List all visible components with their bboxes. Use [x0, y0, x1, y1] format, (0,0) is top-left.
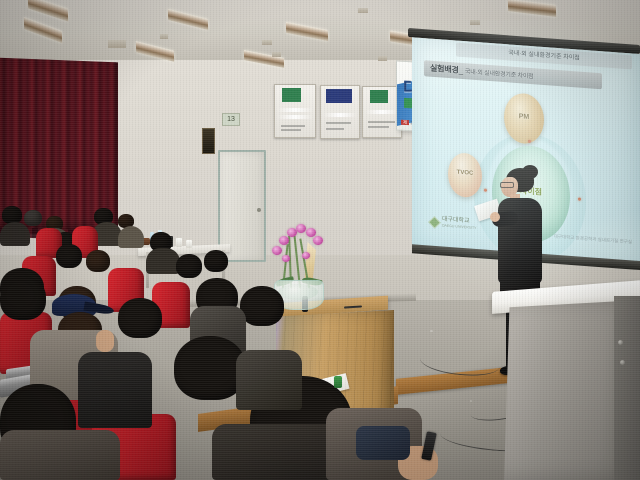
- presenter-torso: [498, 198, 542, 284]
- ceiling-light: [508, 0, 556, 17]
- audience-head: [240, 286, 284, 326]
- audience-head: [176, 254, 202, 278]
- poster-text-line: [281, 129, 301, 131]
- slide-node-dot: [484, 189, 487, 192]
- room-number-sign: 13: [222, 113, 240, 126]
- glasses-icon: [500, 182, 514, 188]
- orchid-bloom: [313, 236, 323, 245]
- slide-node-dot: [528, 140, 531, 143]
- wall-speaker: [202, 128, 215, 154]
- slide-logo-text-en: DAEGU UNIVERSITY: [442, 222, 476, 231]
- ceiling-vent: [108, 40, 126, 48]
- floor-speck: [430, 330, 433, 332]
- ceiling-vent: [378, 56, 387, 61]
- slide-logo-text: 대구대학교 DAEGU UNIVERSITY: [442, 216, 476, 231]
- audience-head: [24, 210, 42, 226]
- poster-text-line: [368, 121, 395, 123]
- poster-text-line: [368, 126, 389, 128]
- audience-body: [0, 222, 30, 246]
- lecture-hall-photo: 13 대구 대 제 2008. 11. 국내·외 실내환경기준 차이점 실험배경…: [0, 0, 640, 480]
- slide-bubble-tvoc-label: TVOC: [448, 169, 482, 177]
- poster-text-line: [326, 128, 343, 130]
- audience-hand: [96, 330, 114, 352]
- slide-bubble-tvoc: TVOC: [448, 152, 482, 198]
- audience-body: [146, 248, 180, 274]
- door-knob-icon[interactable]: [257, 208, 261, 212]
- floor-speck: [470, 400, 472, 402]
- poster-glare: [365, 110, 400, 114]
- poster-text-line: [326, 122, 350, 124]
- slide-title-sub: 국내·외 실내환경기준 차이점: [465, 69, 534, 80]
- ceiling-vent: [160, 34, 168, 39]
- wall-poster: [320, 85, 360, 139]
- poster-text-line: [281, 125, 306, 127]
- poster-glare: [277, 115, 314, 119]
- orchid-bloom: [296, 224, 306, 233]
- poster-header-band: [282, 88, 301, 102]
- beverage-can: [334, 376, 342, 388]
- audience-body: [236, 350, 302, 410]
- diamond-logo-icon: [428, 216, 441, 229]
- audience-head: [118, 298, 162, 338]
- ceiling-vent: [272, 52, 281, 57]
- lectern-screw: [620, 360, 625, 365]
- audience-body: [0, 430, 120, 480]
- poster-header-band: [370, 90, 388, 103]
- audience-head: [86, 250, 110, 272]
- presenter-hand: [490, 212, 500, 222]
- orchid-bloom: [272, 246, 282, 255]
- lectern-side-panel: [614, 296, 640, 480]
- ceiling-vent: [262, 40, 272, 45]
- ceiling-light: [136, 41, 174, 62]
- slide-bubble-pm-label: PM: [504, 112, 544, 122]
- paper-cup: [186, 240, 192, 248]
- audience-leg: [356, 426, 410, 460]
- audience-body: [78, 352, 152, 428]
- audience-body: [118, 226, 144, 248]
- slide-title-main: 실험배경: [430, 64, 459, 75]
- ceiling-light: [24, 17, 62, 43]
- ceiling-vent: [470, 20, 480, 25]
- orchid-bloom: [302, 252, 310, 259]
- audience-head: [204, 250, 228, 272]
- orchid-bloom: [282, 255, 290, 262]
- ceiling-light: [286, 22, 328, 41]
- poster-header-band: [326, 89, 352, 103]
- poster-glare: [323, 113, 358, 117]
- audience-body: [212, 424, 342, 480]
- slide-title-separator: _: [459, 66, 463, 75]
- paper-cup: [176, 238, 182, 247]
- ceiling-vent: [358, 8, 368, 13]
- audience-head: [56, 244, 82, 268]
- orchid-bloom: [279, 236, 289, 245]
- ceiling-light: [28, 0, 68, 22]
- slide-node-dot: [578, 197, 581, 200]
- lectern-screw: [618, 340, 623, 345]
- wall-poster: [274, 84, 316, 138]
- poster-glare: [277, 108, 314, 112]
- audience-head: [0, 276, 46, 320]
- ceiling-light: [168, 9, 208, 30]
